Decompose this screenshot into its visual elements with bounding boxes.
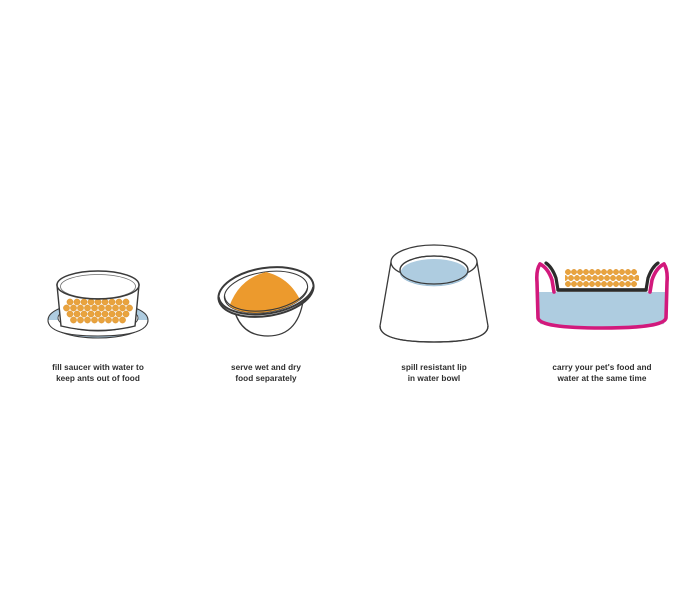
feature-panels-row: fill saucer with water to keep ants out … <box>0 215 700 385</box>
panel-carry-food-and-water: carry your pet's food and water at the s… <box>518 236 686 385</box>
tilted-bowl-with-food-mound-illustration <box>182 236 350 356</box>
bowl-in-saucer-illustration <box>14 236 182 356</box>
panel-saucer-water: fill saucer with water to keep ants out … <box>14 236 182 385</box>
panel-caption: fill saucer with water to keep ants out … <box>52 363 144 385</box>
water-ellipse <box>401 259 467 285</box>
bowl-rim <box>57 271 139 299</box>
cross-section-carrier-illustration <box>518 236 686 356</box>
panel-spill-resistant-lip: spill resistant lip in water bowl <box>350 236 518 385</box>
panel-caption: carry your pet's food and water at the s… <box>552 363 651 385</box>
panel-caption: serve wet and dry food separately <box>231 363 301 385</box>
panel-wet-dry-separately: serve wet and dry food separately <box>182 236 350 385</box>
panel-caption: spill resistant lip in water bowl <box>401 363 467 385</box>
infographic-canvas: fill saucer with water to keep ants out … <box>0 0 700 600</box>
conical-water-bowl-illustration <box>350 236 518 356</box>
